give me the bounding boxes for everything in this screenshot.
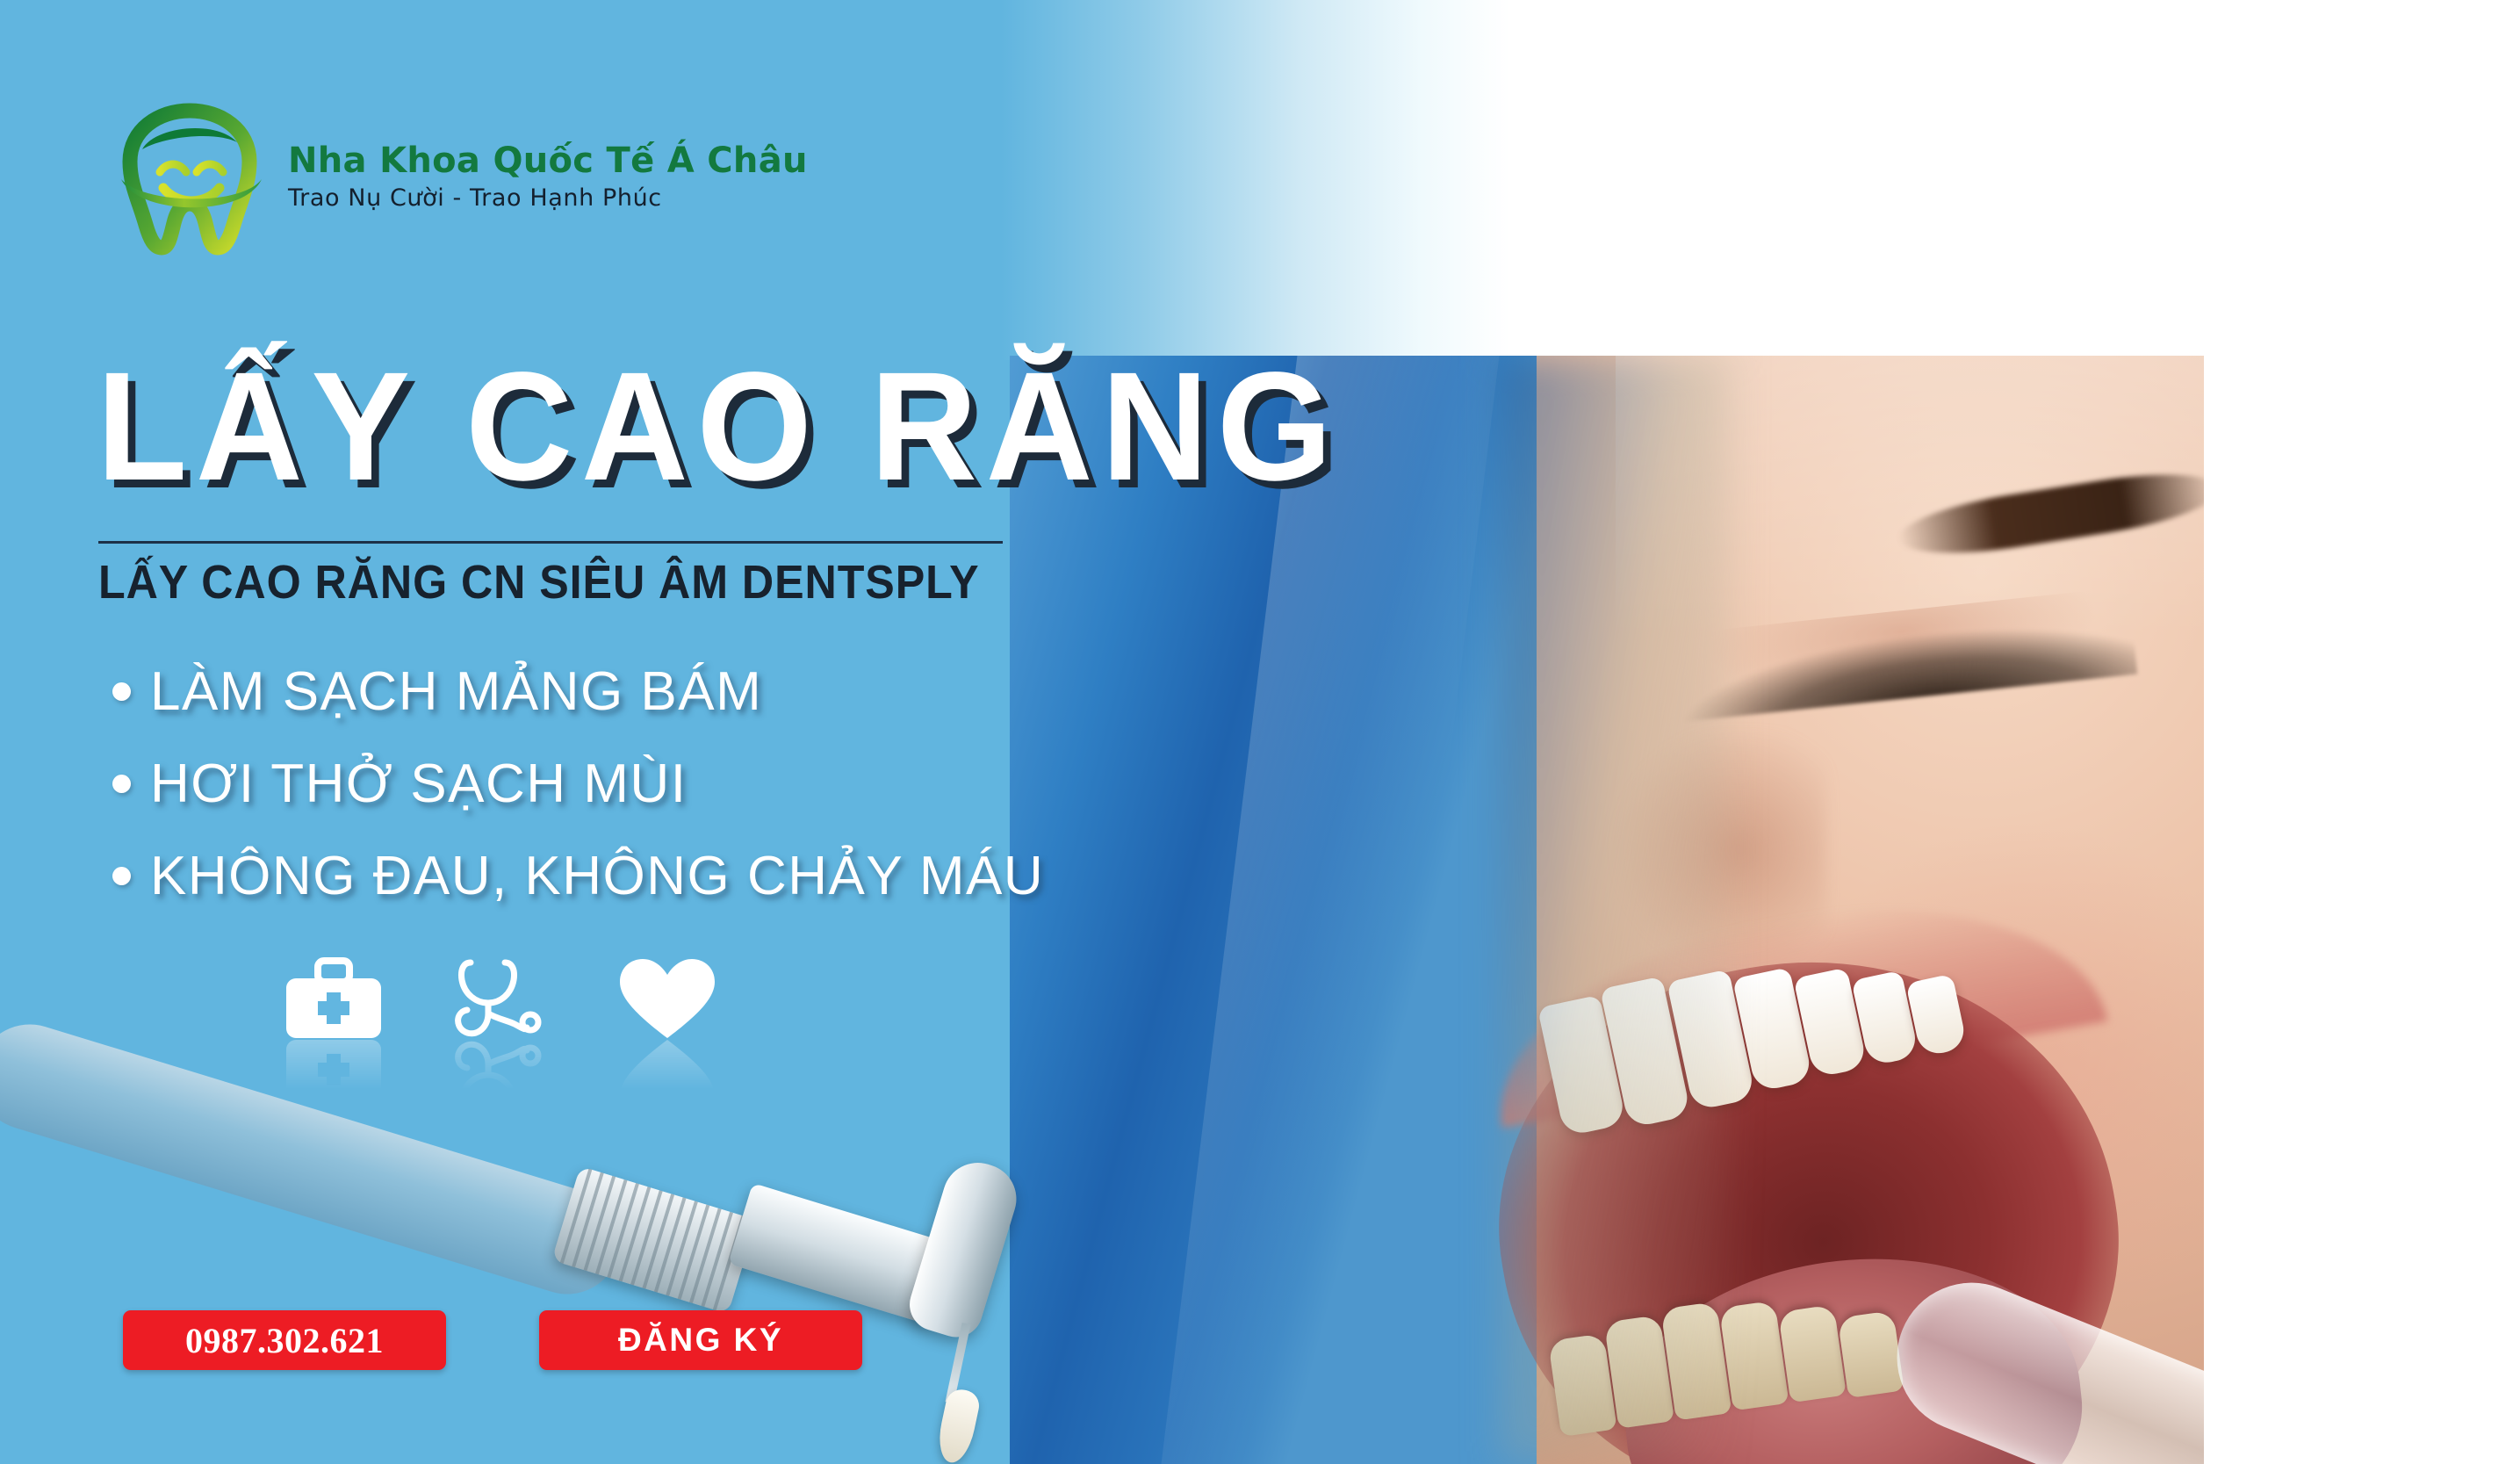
hero-headline: LẤY CAO RĂNG [97,355,1341,500]
benefit-label: HƠI THỞ SẠCH MÙI [150,753,687,815]
bullet-dot-icon [112,775,131,793]
smiling-tooth-logo-icon [112,97,267,256]
hero-subheadline: LẤY CAO RĂNG CN SIÊU ÂM DENTSPLY [98,555,980,609]
bullet-dot-icon [112,867,131,885]
heart-reflection [616,1038,725,1089]
stethoscope-icon [450,957,558,1089]
cta-group: 0987.302.621 ĐĂNG KÝ [123,1310,862,1370]
feature-icons [283,957,725,1089]
stethoscope-reflection [450,1038,558,1089]
medical-briefcase-icon [283,957,392,1089]
clinic-tagline: Trao Nụ Cười - Trao Hạnh Phúc [288,186,808,210]
headline-divider [98,541,1003,544]
benefit-label: KHÔNG ĐAU, KHÔNG CHẢY MÁU [150,845,1044,907]
photo-closed-eye [1677,558,2134,725]
benefits-list: LÀM SẠCH MẢNG BÁM HƠI THỞ SẠCH MÙI KHÔNG… [112,660,1044,907]
dental-clinic-banner: Nha Khoa Quốc Tế Á Châu Trao Nụ Cười - T… [0,0,2520,1464]
left-blue-panel [0,360,1019,1464]
benefit-item: HƠI THỞ SẠCH MÙI [112,753,1044,815]
clinic-name: Nha Khoa Quốc Tế Á Châu [288,143,808,178]
clinic-logo[interactable]: Nha Khoa Quốc Tế Á Châu Trao Nụ Cười - T… [112,97,808,256]
benefit-label: LÀM SẠCH MẢNG BÁM [150,660,762,723]
benefit-item: KHÔNG ĐAU, KHÔNG CHẢY MÁU [112,845,1044,907]
briefcase-reflection [283,1038,392,1089]
register-button[interactable]: ĐĂNG KÝ [539,1310,862,1370]
phone-button[interactable]: 0987.302.621 [123,1310,446,1370]
photo-drape-face-edge [1501,356,1730,1464]
treatment-photo [1010,356,2204,1464]
heart-icon [616,957,725,1089]
benefit-item: LÀM SẠCH MẢNG BÁM [112,660,1044,723]
bullet-dot-icon [112,682,131,701]
